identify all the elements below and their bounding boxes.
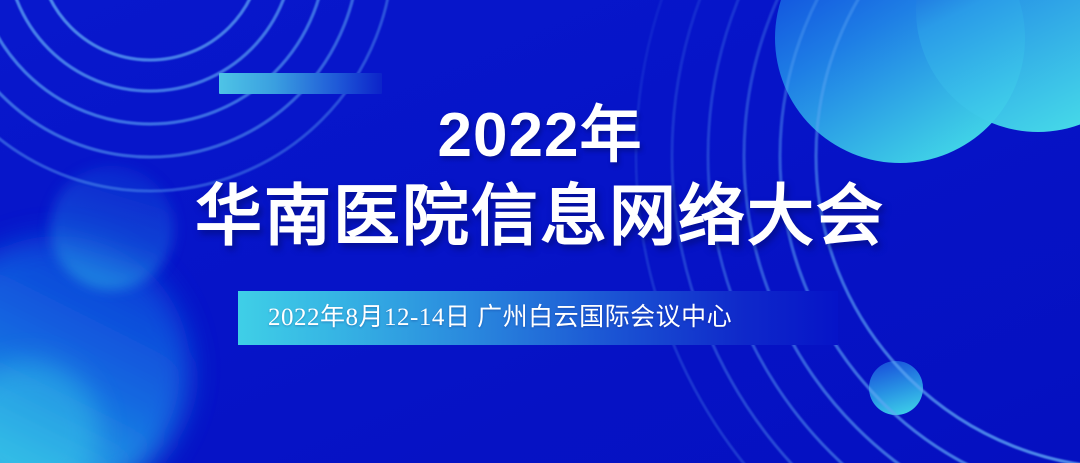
gradient-accent-bar	[219, 73, 382, 94]
banner-year: 2022年	[0, 103, 1080, 169]
banner-content: 2022年 华南医院信息网络大会 2022年8月12-14日 广州白云国际会议中…	[0, 0, 1080, 463]
conference-banner: 2022年 华南医院信息网络大会 2022年8月12-14日 广州白云国际会议中…	[0, 0, 1080, 463]
subtitle-text: 2022年8月12-14日 广州白云国际会议中心	[238, 303, 732, 333]
banner-title: 华南医院信息网络大会	[0, 180, 1080, 254]
subtitle-ribbon: 2022年8月12-14日 广州白云国际会议中心	[238, 291, 838, 345]
